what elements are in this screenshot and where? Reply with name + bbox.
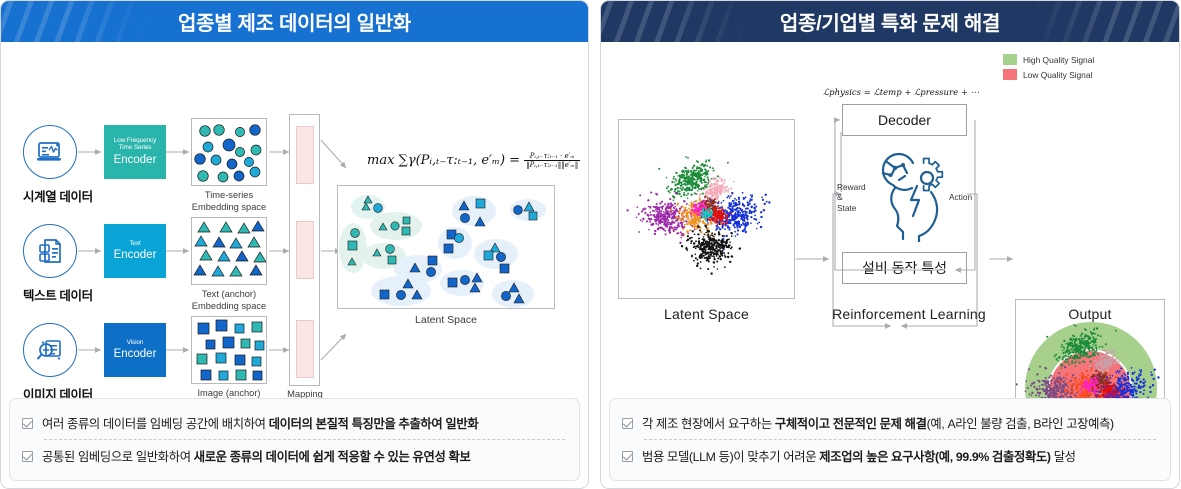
right-bullet-card: 각 제조 현장에서 요구하는 구체적이고 전문적인 문제 해결(예, A라인 불… [609,398,1171,481]
input-timeseries[interactable]: 시계열 데이터 [23,125,77,205]
left-panel-body: 시계열 데이터 Low Frequency Time Series Encode… [1,42,588,488]
right-panel-body: High Quality Signal Low Quality Signal L… [601,42,1179,488]
reward-state-label: Reward & State [837,182,866,213]
right-bullet-2-text: 범용 모델(LLM 등)이 맞추기 어려운 제조업의 높은 요구사항(예, 99… [642,447,1076,465]
embedding-timeseries: Time-series Embedding space [191,118,267,213]
latent-space-box [337,185,555,309]
rl-caption: Reinforcement Learning [829,306,989,322]
right-latent-space-box [618,119,795,299]
header-stripes-right-icon [1029,1,1179,42]
right-bullet-2: 범용 모델(LLM 등)이 맞추기 어려운 제조업의 높은 요구사항(예, 99… [622,441,1160,471]
encoder-vision[interactable]: Vision Encoder [104,323,166,377]
right-bullet-1: 각 제조 현장에서 요구하는 구체적이고 전문적인 문제 해결(예, A라인 불… [622,408,1160,438]
mapping-bar-2 [296,221,314,279]
input-text-label: 텍스트 데이터 [23,285,77,304]
right-panel: 업종/기업별 특화 문제 해결 [600,0,1180,489]
left-panel-title: 업종별 제조 데이터의 일반화 [178,7,411,36]
document-text-icon [23,224,77,278]
header-stripes-left-icon [1,1,151,42]
checkbox-icon [622,418,633,429]
embedding-text-cap2: Embedding space [191,301,267,313]
encoder-vision-sub1: Vision [127,340,144,347]
checkbox-icon [22,451,33,462]
legend-swatch-low-icon [1003,69,1017,80]
legend-swatch-high-icon [1003,54,1017,65]
embedding-image-box [191,316,267,384]
mapping-bar-3 [296,320,314,378]
embedding-image: Image (anchor) Embedding space [191,316,267,411]
input-timeseries-label: 시계열 데이터 [23,186,77,205]
checkbox-icon [22,418,33,429]
encoder-text-label: Encoder [114,249,157,261]
embedding-timeseries-cap2: Embedding space [191,202,267,214]
bullet-divider [44,439,565,440]
image-search-icon [23,323,77,377]
formula-numerator: Pᵢ,ₜ₋τ:ₜ₋₁ · e′ₘ [528,152,577,160]
header-stripes-left-icon [601,1,751,42]
right-panel-title: 업종/기업별 특화 문제 해결 [780,7,1000,36]
left-bullet-2-text: 공통된 임베딩으로 일반화하여 새로운 종류의 데이터에 쉽게 적응할 수 있는… [42,447,470,465]
contrastive-formula: max ∑γ(Pᵢ,ₜ₋τ:ₜ₋₁, e′ₘ) = Pᵢ,ₜ₋τ:ₜ₋₁ · e… [367,152,580,169]
timeseries-monitor-icon [23,125,77,179]
input-image[interactable]: 이미지 데이터 [23,323,77,403]
right-latent-space-caption: Latent Space [618,306,795,322]
quality-legend: High Quality Signal Low Quality Signal [1003,54,1094,84]
left-bullet-1: 여러 종류의 데이터를 임베딩 공간에 배치하여 데이터의 본질적 특징만을 추… [22,408,569,438]
latent-space-caption: Latent Space [337,314,555,327]
bullet-divider [644,439,1156,440]
latent-scatter-plot [619,120,795,299]
left-bullet-card: 여러 종류의 데이터를 임베딩 공간에 배치하여 데이터의 본질적 특징만을 추… [9,398,580,481]
encoder-text[interactable]: Text Encoder [104,224,166,278]
input-text[interactable]: 텍스트 데이터 [23,224,77,304]
legend-label-high: High Quality Signal [1023,55,1094,65]
embedding-text-cap1: Text (anchor) [191,289,267,301]
embedding-text: Text (anchor) Embedding space [191,217,267,312]
checkbox-icon [622,451,633,462]
right-panel-header: 업종/기업별 특화 문제 해결 [601,1,1179,42]
ai-brain-gear-icon [869,146,949,247]
left-bullet-2: 공통된 임베딩으로 일반화하여 새로운 종류의 데이터에 쉽게 적응할 수 있는… [22,441,569,471]
embedding-timeseries-cap1: Time-series [191,190,267,202]
mapping-bar-1 [296,126,314,184]
left-panel: 업종별 제조 데이터의 일반화 [0,0,589,489]
left-bullet-1-text: 여러 종류의 데이터를 임베딩 공간에 배치하여 데이터의 본질적 특징만을 추… [42,414,478,432]
encoder-text-sub1: Text [129,241,140,248]
formula-denominator: ‖Pᵢ,ₜ₋τ:ₜ₋₁‖‖e′ₘ‖ [524,161,580,169]
mapping-function-box [289,114,320,386]
slide-root: 업종별 제조 데이터의 일반화 [0,0,1181,489]
legend-label-low: Low Quality Signal [1023,70,1092,80]
left-panel-header: 업종별 제조 데이터의 일반화 [1,1,588,42]
embedding-timeseries-box [191,118,267,186]
action-label: Action [949,192,972,202]
right-bullet-1-text: 각 제조 현장에서 요구하는 구체적이고 전문적인 문제 해결(예, A라인 불… [642,414,1114,432]
physics-loss-formula: ℒphysics = ℒtemp + ℒpressure + ⋯ [823,88,979,98]
embedding-text-box [191,217,267,285]
output-caption: Output [1015,306,1165,322]
encoder-timeseries-sub2: Time Series [119,145,152,152]
legend-item-low: Low Quality Signal [1003,69,1094,80]
formula-lhs: max ∑γ(Pᵢ,ₜ₋τ:ₜ₋₁, e′ₘ) = [367,153,520,168]
encoder-timeseries-label: Encoder [114,154,157,166]
legend-item-high: High Quality Signal [1003,54,1094,65]
encoder-vision-label: Encoder [114,348,157,360]
encoder-timeseries[interactable]: Low Frequency Time Series Encoder [104,125,166,179]
